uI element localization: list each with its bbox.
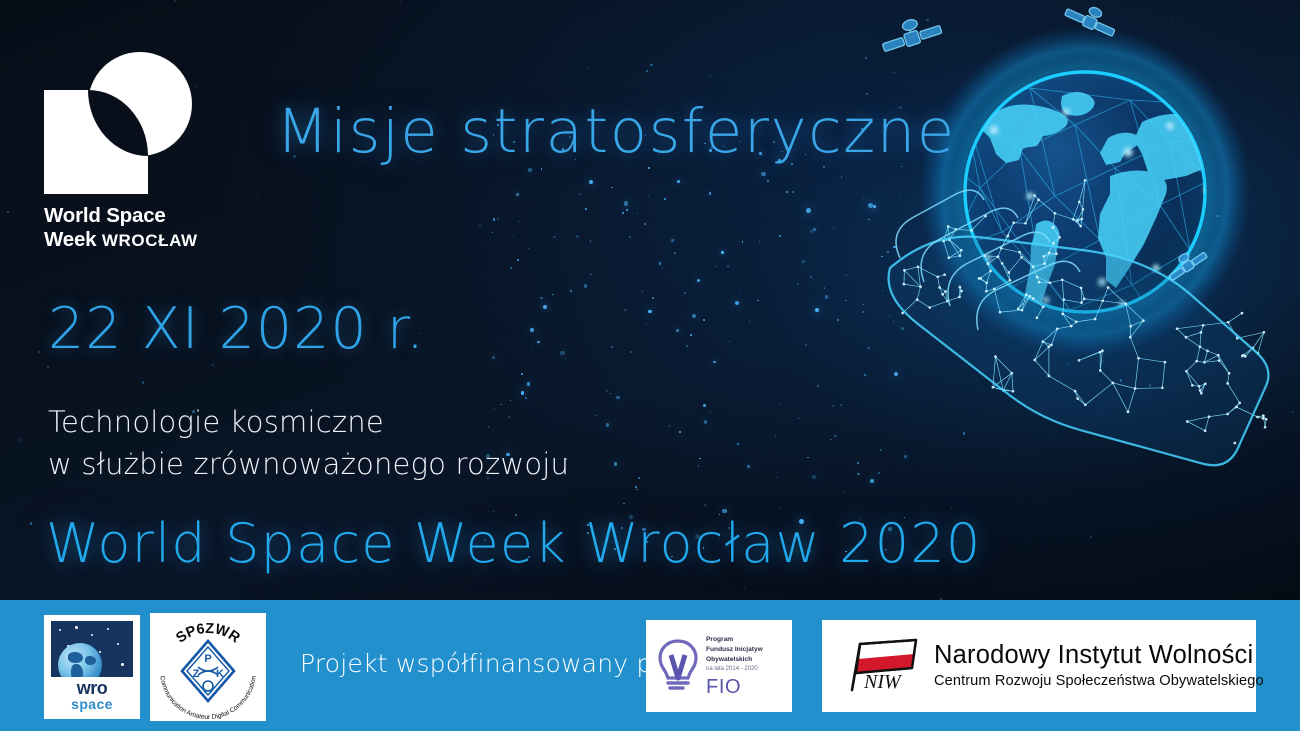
fio-line-2: Fundusz Inicjatyw — [706, 645, 763, 655]
subtitle-line-1: Technologie kosmiczne — [48, 402, 569, 444]
poster-canvas: World Space Week WROCŁAW Misje stratosfe… — [0, 0, 1300, 731]
fio-line-4: na lata 2014 - 2020 — [706, 665, 763, 674]
fio-acronym: FIO — [706, 677, 763, 697]
page-title: Misje stratosferyczne — [276, 96, 956, 167]
svg-text:NIW: NIW — [863, 671, 903, 693]
sponsor-logo-niw: NIW Narodowy Instytut Wolności Centrum R… — [822, 620, 1256, 712]
niw-subtitle: Centrum Rozwoju Społeczeństwa Obywatelsk… — [934, 673, 1264, 691]
fio-line-3: Obywatelskich — [706, 655, 763, 665]
cofinancing-text: Projekt współfinansowany przez — [300, 649, 705, 678]
sponsor-logo-sp6zwr: SP6ZWR Communication Amateur Digital Com… — [150, 613, 266, 721]
wro-space-word2: space — [49, 697, 135, 711]
fio-bulb-icon — [656, 638, 700, 694]
logo-text-city: WROCŁAW — [102, 231, 198, 250]
logo-text-week: Week — [44, 228, 96, 251]
logo-text-line1: World Space — [44, 204, 274, 228]
event-date: 22 XI 2020 r. — [48, 296, 425, 362]
logo-text-line2: Week WROCŁAW — [44, 228, 274, 252]
wro-space-earth-icon — [58, 643, 102, 677]
subtitle-line-2: w służbie zrównoważonego rozwoju — [48, 444, 569, 486]
world-space-week-logo-text: World Space Week WROCŁAW — [44, 204, 274, 252]
niw-flag-icon: NIW — [846, 638, 922, 694]
sponsor-logo-fio: Program Fundusz Inicjatyw Obywatelskich … — [646, 620, 792, 712]
event-brandline: World Space Week Wrocław 2020 — [46, 512, 981, 575]
svg-text:Communication Amateur Digital: Communication Amateur Digital Communicat… — [158, 675, 258, 721]
sponsor-logo-wro-space: wro space — [44, 615, 140, 719]
niw-title: Narodowy Instytut Wolności — [934, 641, 1264, 670]
wro-space-sky — [51, 621, 133, 677]
svg-text:P: P — [204, 653, 211, 665]
event-subtitle: Technologie kosmiczne w służbie zrównowa… — [48, 402, 569, 486]
world-space-week-mark — [44, 52, 192, 194]
world-space-week-logo: World Space Week WROCŁAW — [44, 52, 274, 252]
fio-line-1: Program — [706, 635, 763, 645]
wro-space-word1: wro — [49, 679, 135, 697]
